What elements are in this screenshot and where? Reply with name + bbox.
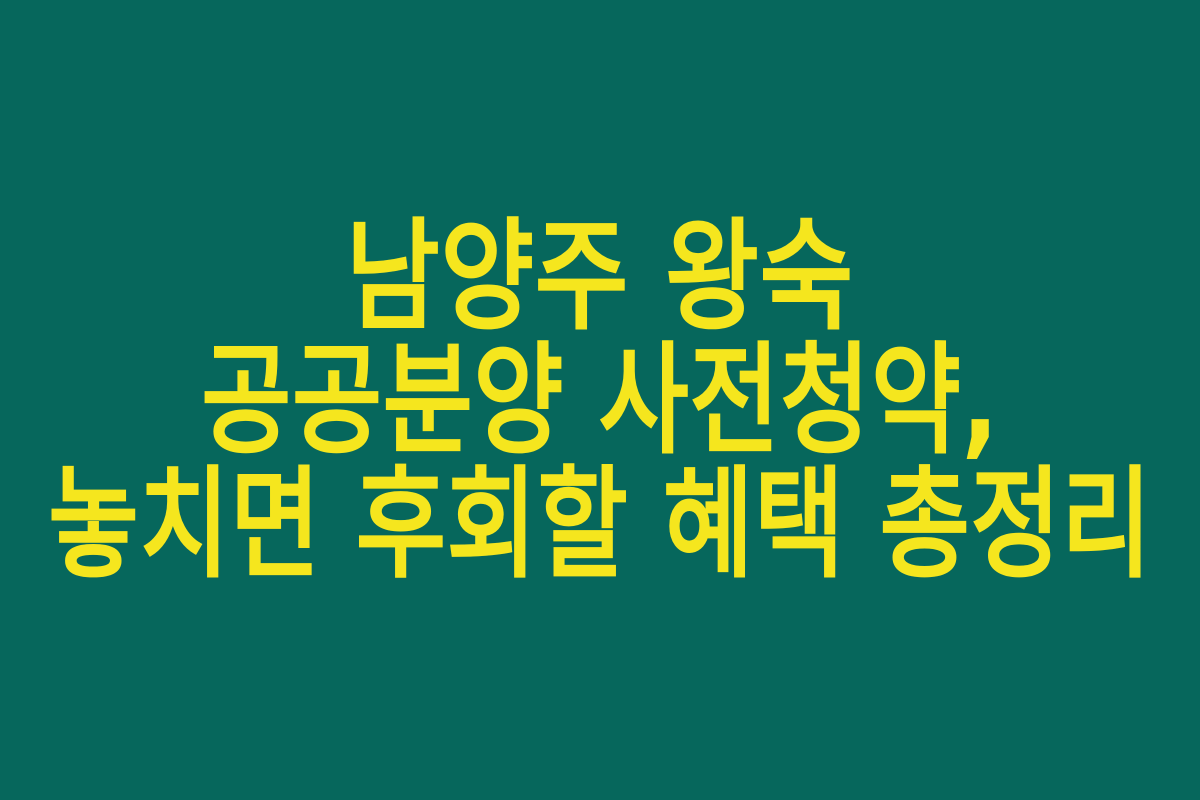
- headline-line-1-wrap: 남양주 왕숙: [341, 214, 859, 338]
- thumbnail-banner: 남양주 왕숙 공공분양 사전청약, 놓치면 후회할 혜택 총정리: [0, 0, 1200, 800]
- headline-line-3: 놓치면 후회할 혜택 총정리: [48, 452, 1152, 596]
- headline-line-2-wrap: 공공분양 사전청약,: [177, 338, 1023, 462]
- headline-block: 남양주 왕숙 공공분양 사전청약, 놓치면 후회할 혜택 총정리: [0, 214, 1200, 586]
- headline-line-2: 공공분양 사전청약,: [201, 328, 999, 472]
- headline-line-1: 남양주 왕숙: [346, 204, 854, 348]
- headline-line-3-wrap: 놓치면 후회할 혜택 총정리: [16, 462, 1184, 586]
